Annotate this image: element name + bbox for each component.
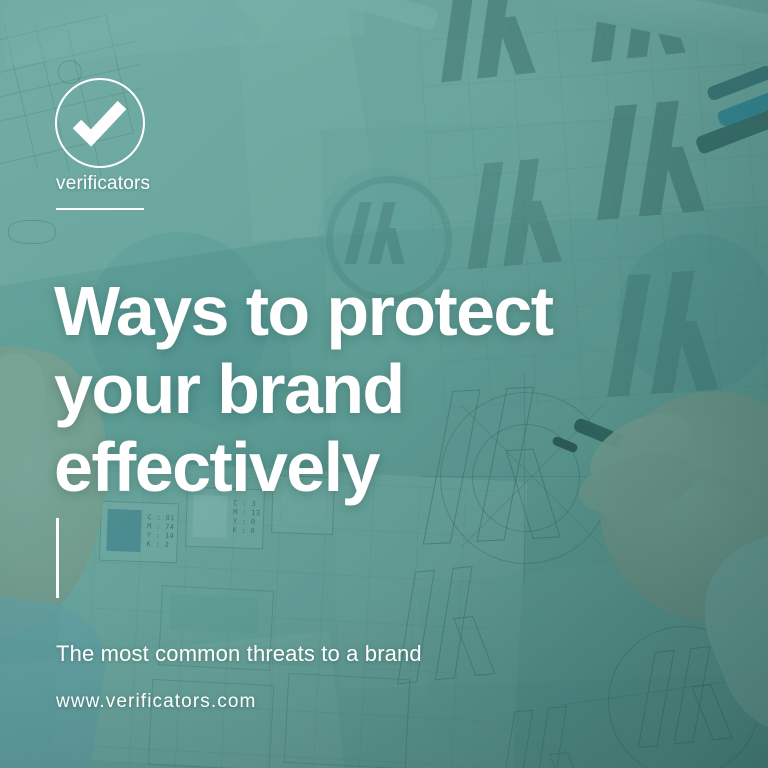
post-content: verificators Ways to protect your brand … <box>0 0 768 768</box>
brand-name: verificators <box>56 173 150 195</box>
checkmark-circle-icon <box>55 78 145 168</box>
subtitle: The most common threats to a brand <box>56 641 422 667</box>
social-media-post: C : 81 M : 74 Y : 14 K : 2 C : 3 M : 13 … <box>0 0 768 768</box>
accent-divider <box>56 518 59 598</box>
brand-underline <box>56 208 144 210</box>
headline-line-2: your brand <box>54 350 714 428</box>
page-title: Ways to protect your brand effectively <box>54 272 714 506</box>
website-url: www.verificators.com <box>56 691 256 713</box>
headline-line-3: effectively <box>54 428 714 506</box>
headline-line-1: Ways to protect <box>54 272 714 350</box>
